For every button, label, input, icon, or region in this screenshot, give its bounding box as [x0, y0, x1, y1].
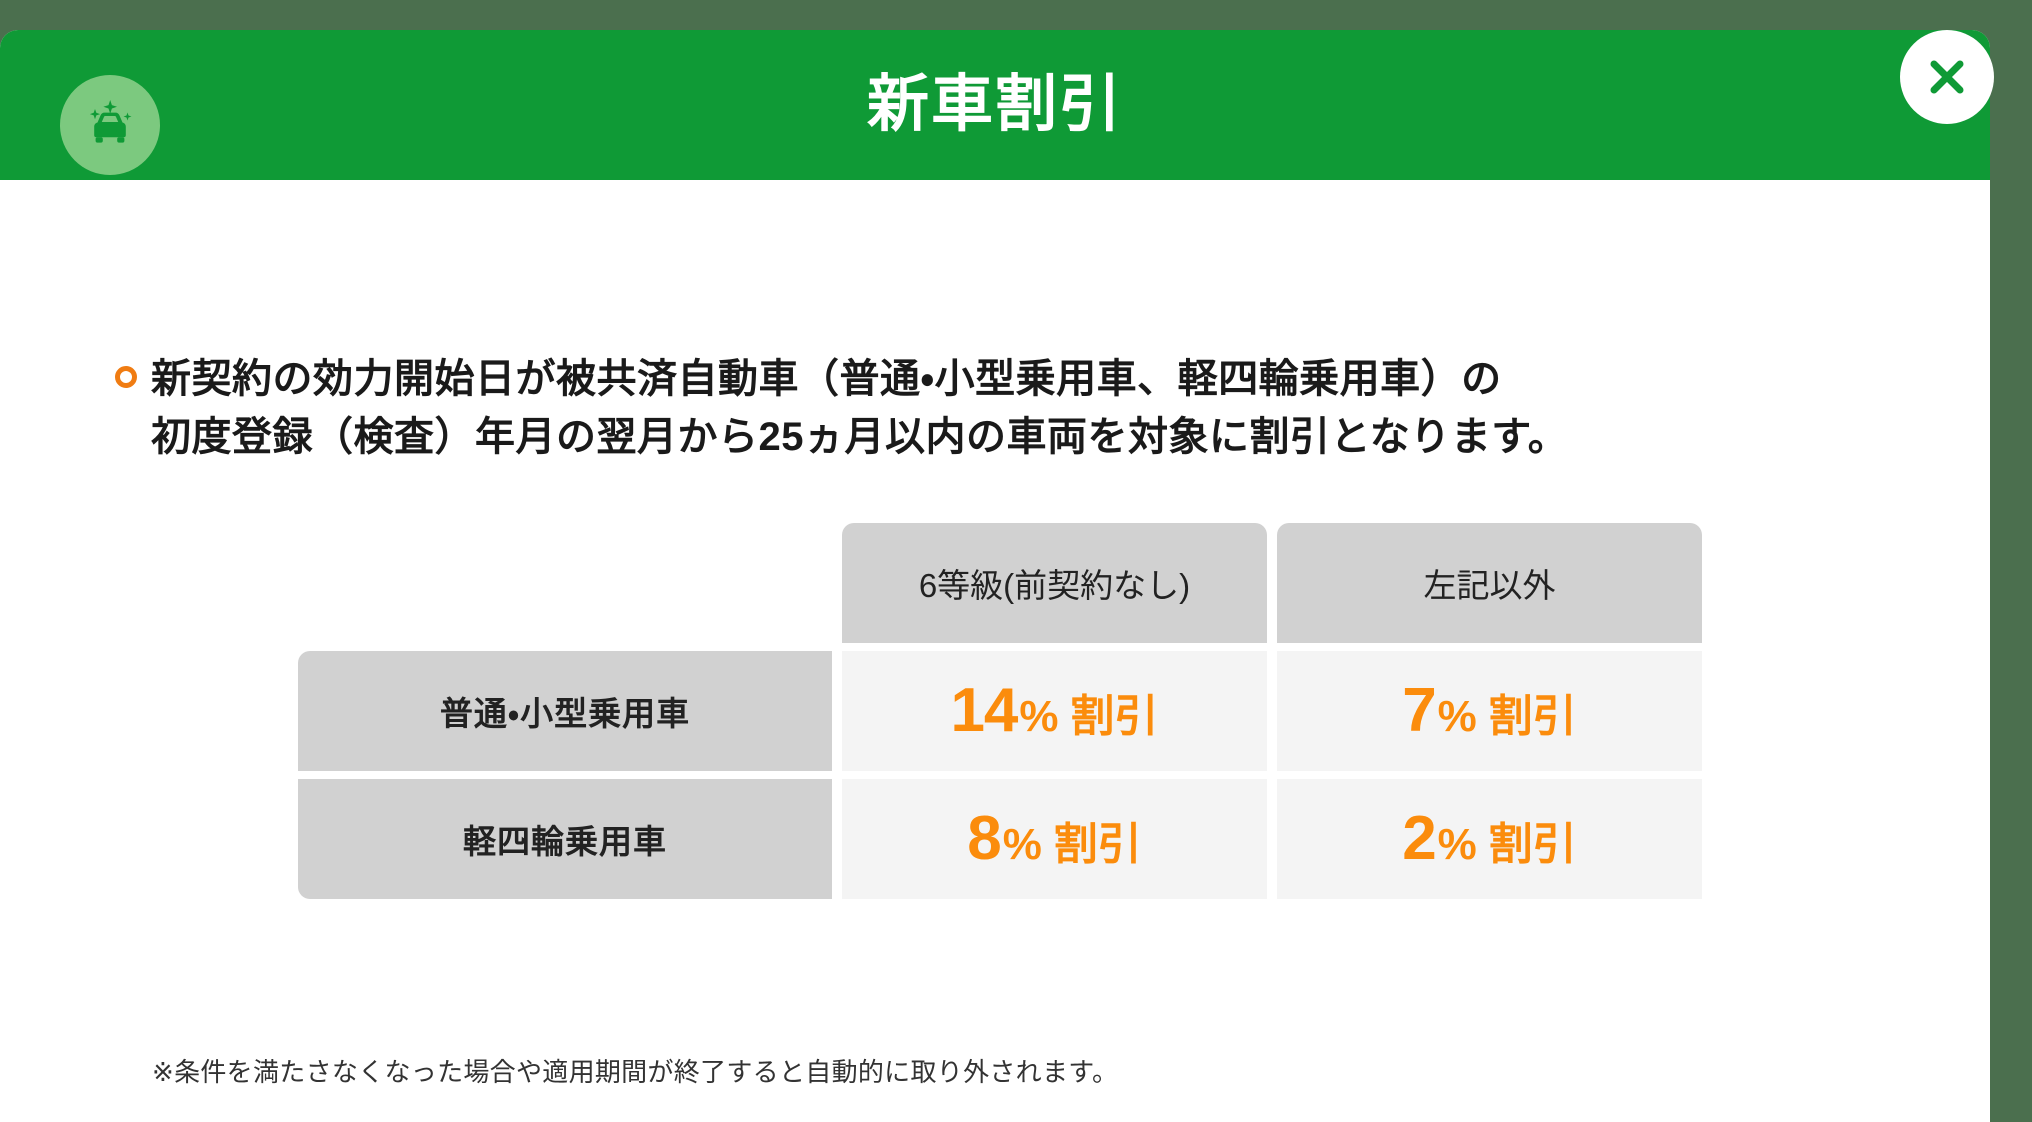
discount-rate-table: 6等級(前契約なし) 左記以外 普通・小型乗用車 14%割引 7%割引 — [288, 515, 1712, 907]
lead-paragraph: 新契約の効力開始日が被共済自動車（普通・小型乗用車、軽四輪乗用車）の 初度登録（… — [115, 350, 1815, 466]
row-label-standard-compact: 普通・小型乗用車 — [298, 651, 832, 771]
lead-line-2: 初度登録（検査）年月の翌月から25ヵ月以内の車両を対象に割引となります。 — [115, 408, 1815, 466]
rate-percent-sign: % — [1003, 823, 1042, 867]
row-label-kei: 軽四輪乗用車 — [298, 779, 832, 899]
rate-number: 14 — [950, 680, 1017, 742]
rate-number: 7 — [1402, 680, 1435, 742]
discount-rate: 14%割引 — [950, 680, 1158, 742]
table-row: 軽四輪乗用車 8%割引 2%割引 — [298, 779, 1702, 899]
new-car-discount-modal: 新車割引 新契約の効力開始日が被共済自動車（普通・小型乗用車、軽四輪乗用車）の … — [0, 30, 1990, 1122]
rate-word: 割引 — [1054, 823, 1142, 867]
rate-word: 割引 — [1071, 695, 1159, 739]
rate-percent-sign: % — [1438, 823, 1477, 867]
rate-percent-sign: % — [1438, 695, 1477, 739]
close-button[interactable] — [1900, 30, 1994, 124]
rate-word: 割引 — [1489, 695, 1577, 739]
rate-word: 割引 — [1489, 823, 1577, 867]
table-corner-cell — [298, 523, 832, 643]
cell-kei-other: 2%割引 — [1277, 779, 1702, 899]
rate-percent-sign: % — [1019, 695, 1058, 739]
discount-rate: 7%割引 — [1402, 680, 1577, 742]
lead-line-1: 新契約の効力開始日が被共済自動車（普通・小型乗用車、軽四輪乗用車）の — [151, 357, 1502, 401]
column-header-grade6: 6等級(前契約なし) — [842, 523, 1267, 643]
table-row: 普通・小型乗用車 14%割引 7%割引 — [298, 651, 1702, 771]
cell-standard-grade6: 14%割引 — [842, 651, 1267, 771]
discount-rate: 2%割引 — [1402, 808, 1577, 870]
footnote-text: ※条件を満たさなくなった場合や適用期間が終了すると自動的に取り外されます。 — [152, 1052, 1118, 1089]
rate-number: 2 — [1402, 808, 1435, 870]
discount-rate: 8%割引 — [967, 808, 1142, 870]
cell-standard-other: 7%割引 — [1277, 651, 1702, 771]
page-title: 新車割引 — [0, 30, 1990, 180]
column-header-other: 左記以外 — [1277, 523, 1702, 643]
modal-header: 新車割引 — [0, 30, 1990, 180]
table-header-row: 6等級(前契約なし) 左記以外 — [298, 523, 1702, 643]
rate-number: 8 — [967, 808, 1000, 870]
cell-kei-grade6: 8%割引 — [842, 779, 1267, 899]
modal-body: 新契約の効力開始日が被共済自動車（普通・小型乗用車、軽四輪乗用車）の 初度登録（… — [0, 180, 1990, 1122]
close-icon — [1924, 54, 1970, 100]
bullet-ring-icon — [115, 366, 137, 388]
